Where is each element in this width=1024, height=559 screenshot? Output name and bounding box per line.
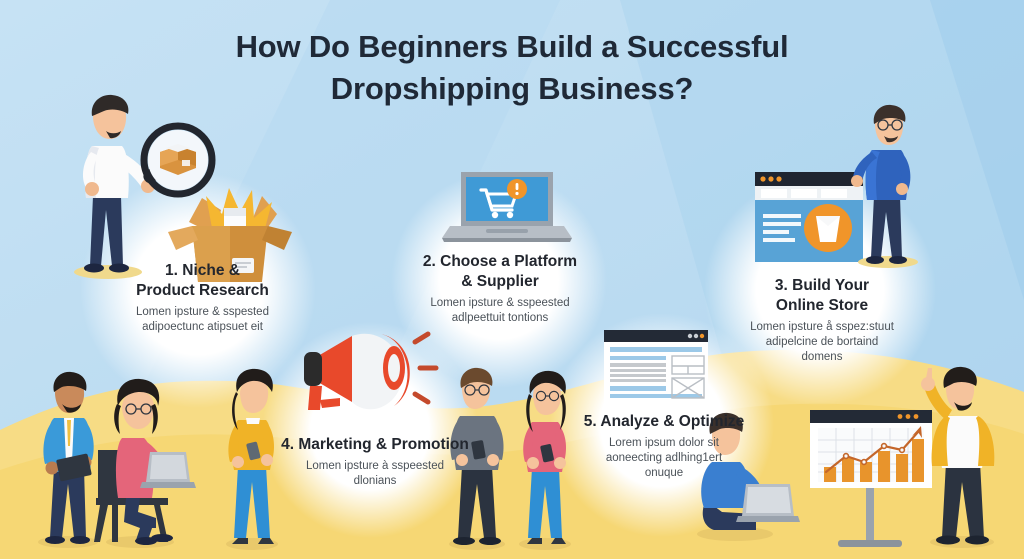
step-1-heading: 1. Niche & Product Research (105, 261, 300, 301)
step-5-body: Lorem ipsum dolor sit aoneecting adlhing… (556, 436, 772, 482)
step-4-text: 4. Marketing & Promotion Lomen ipsture à… (265, 435, 485, 489)
step-1-body: Lomen ipsture & sspested adipoectunc ati… (105, 305, 300, 336)
page-title: How Do Beginners Build a Successful Drop… (180, 26, 844, 109)
step-3-body: Lomen ipsture å sspez:stuut adipelcine d… (722, 320, 922, 366)
title-line-1: How Do Beginners Build a Successful (180, 26, 844, 68)
step-3-heading: 3. Build Your Online Store (722, 276, 922, 316)
step-4-body: Lomen ipsture à sspeested dlonians (265, 459, 485, 490)
text-layer: How Do Beginners Build a Successful Drop… (0, 0, 1024, 559)
title-line-2: Dropshipping Business? (180, 68, 844, 110)
step-1-text: 1. Niche & Product Research Lomen ipstur… (105, 261, 300, 335)
step-2-heading: 2. Choose a Platform & Supplier (400, 252, 600, 292)
step-3-text: 3. Build Your Online Store Lomen ipsture… (722, 276, 922, 366)
step-5-heading: 5. Analyze & Optimize (556, 412, 772, 432)
step-2-text: 2. Choose a Platform & Supplier Lomen ip… (400, 252, 600, 326)
step-5-text: 5. Analyze & Optimize Lorem ipsum dolor … (556, 412, 772, 482)
infographic-canvas: How Do Beginners Build a Successful Drop… (0, 0, 1024, 559)
step-4-heading: 4. Marketing & Promotion (265, 435, 485, 455)
step-2-body: Lomen ipsture & sspeested adlpeettuit to… (400, 296, 600, 327)
